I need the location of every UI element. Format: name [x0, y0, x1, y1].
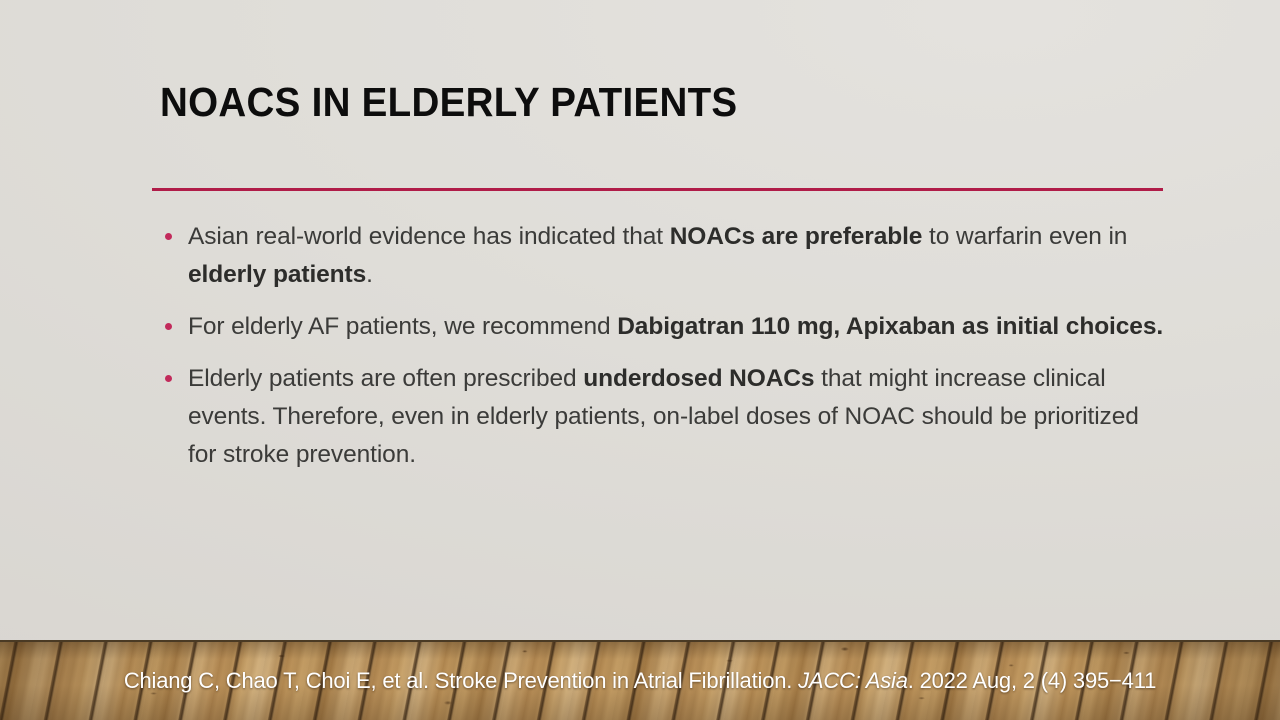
- bullet-dot-icon: [165, 375, 172, 382]
- list-item: Elderly patients are often prescribed un…: [160, 360, 1170, 474]
- title-divider-rule: [152, 188, 1163, 191]
- source-citation: Chiang C, Chao T, Choi E, et al. Stroke …: [0, 668, 1280, 694]
- list-item: Asian real-world evidence has indicated …: [160, 218, 1170, 294]
- slide-canvas: NOACS IN ELDERLY PATIENTS Asian real-wor…: [0, 0, 1280, 720]
- list-item-text: Asian real-world evidence has indicated …: [188, 218, 1170, 294]
- bullet-dot-icon: [165, 323, 172, 330]
- footer-wood-band: Chiang C, Chao T, Choi E, et al. Stroke …: [0, 640, 1280, 720]
- page-title: NOACS IN ELDERLY PATIENTS: [160, 80, 1109, 126]
- list-item-text: Elderly patients are often prescribed un…: [188, 360, 1170, 474]
- list-item-text: For elderly AF patients, we recommend Da…: [188, 308, 1170, 346]
- bullet-list: Asian real-world evidence has indicated …: [160, 218, 1170, 474]
- bullet-dot-icon: [165, 233, 172, 240]
- list-item: For elderly AF patients, we recommend Da…: [160, 308, 1170, 346]
